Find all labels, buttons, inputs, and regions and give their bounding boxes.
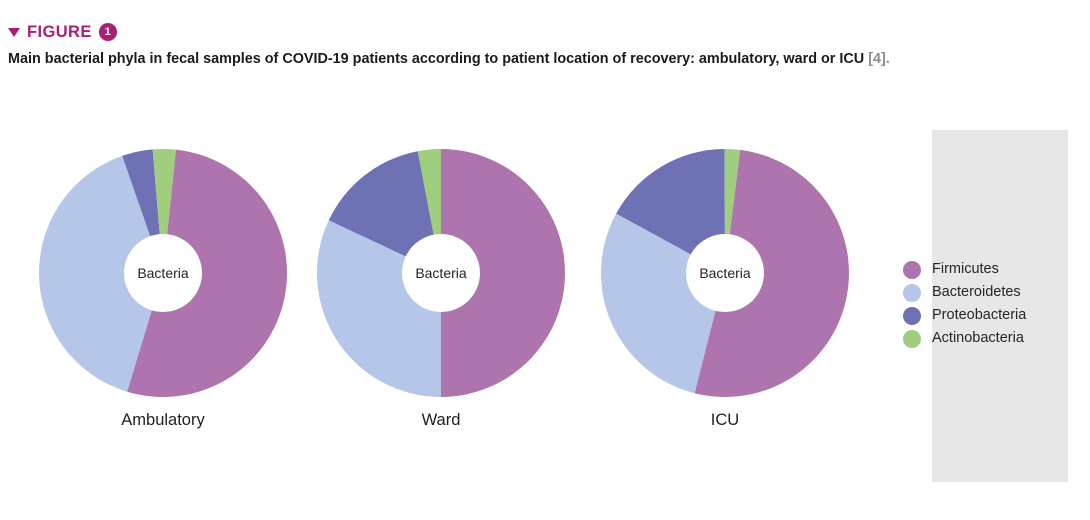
chart-caption-label: Ward: [296, 412, 586, 429]
legend-swatch-icon: [903, 330, 921, 348]
legend-item-label: Firmicutes: [932, 262, 999, 277]
legend-swatch-icon: [903, 261, 921, 279]
legend-swatch-icon: [903, 307, 921, 325]
legend-item-actinobacteria[interactable]: Actinobacteria: [903, 327, 1026, 350]
donut-center-label: Bacteria: [415, 266, 466, 280]
figure-number-badge: 1: [99, 23, 117, 41]
chart-caption-label: ICU: [580, 412, 870, 429]
donut-center: Bacteria: [686, 234, 764, 312]
donut-center: Bacteria: [124, 234, 202, 312]
legend-item-label: Actinobacteria: [932, 331, 1024, 346]
caption-reference[interactable]: [4].: [868, 51, 890, 67]
legend-item-label: Proteobacteria: [932, 308, 1026, 323]
chart-ward: Bacteria Ward: [296, 130, 586, 470]
legend-swatch-icon: [903, 284, 921, 302]
legend-item-label: Bacteroidetes: [932, 285, 1021, 300]
donut-center: Bacteria: [402, 234, 480, 312]
donut-chart[interactable]: Bacteria: [316, 148, 566, 398]
chart-legend: Firmicutes Bacteroidetes Proteobacteria …: [903, 258, 1026, 350]
donut-chart[interactable]: Bacteria: [38, 148, 288, 398]
figure-label: FIGURE: [27, 24, 92, 41]
donut-center-label: Bacteria: [699, 266, 750, 280]
triangle-down-icon[interactable]: [8, 28, 20, 37]
donut-center-label: Bacteria: [137, 266, 188, 280]
legend-item-firmicutes[interactable]: Firmicutes: [903, 258, 1026, 281]
legend-item-bacteroidetes[interactable]: Bacteroidetes: [903, 281, 1026, 304]
figure-header: FIGURE 1: [8, 22, 117, 42]
donut-chart[interactable]: Bacteria: [600, 148, 850, 398]
charts-container: Bacteria Ambulatory Bacteria Ward Bacter…: [0, 130, 900, 470]
caption-text: Main bacterial phyla in fecal samples of…: [8, 51, 864, 67]
chart-icu: Bacteria ICU: [580, 130, 870, 470]
chart-ambulatory: Bacteria Ambulatory: [18, 130, 308, 470]
figure-caption: Main bacterial phyla in fecal samples of…: [8, 50, 1078, 69]
legend-item-proteobacteria[interactable]: Proteobacteria: [903, 304, 1026, 327]
chart-caption-label: Ambulatory: [18, 412, 308, 429]
